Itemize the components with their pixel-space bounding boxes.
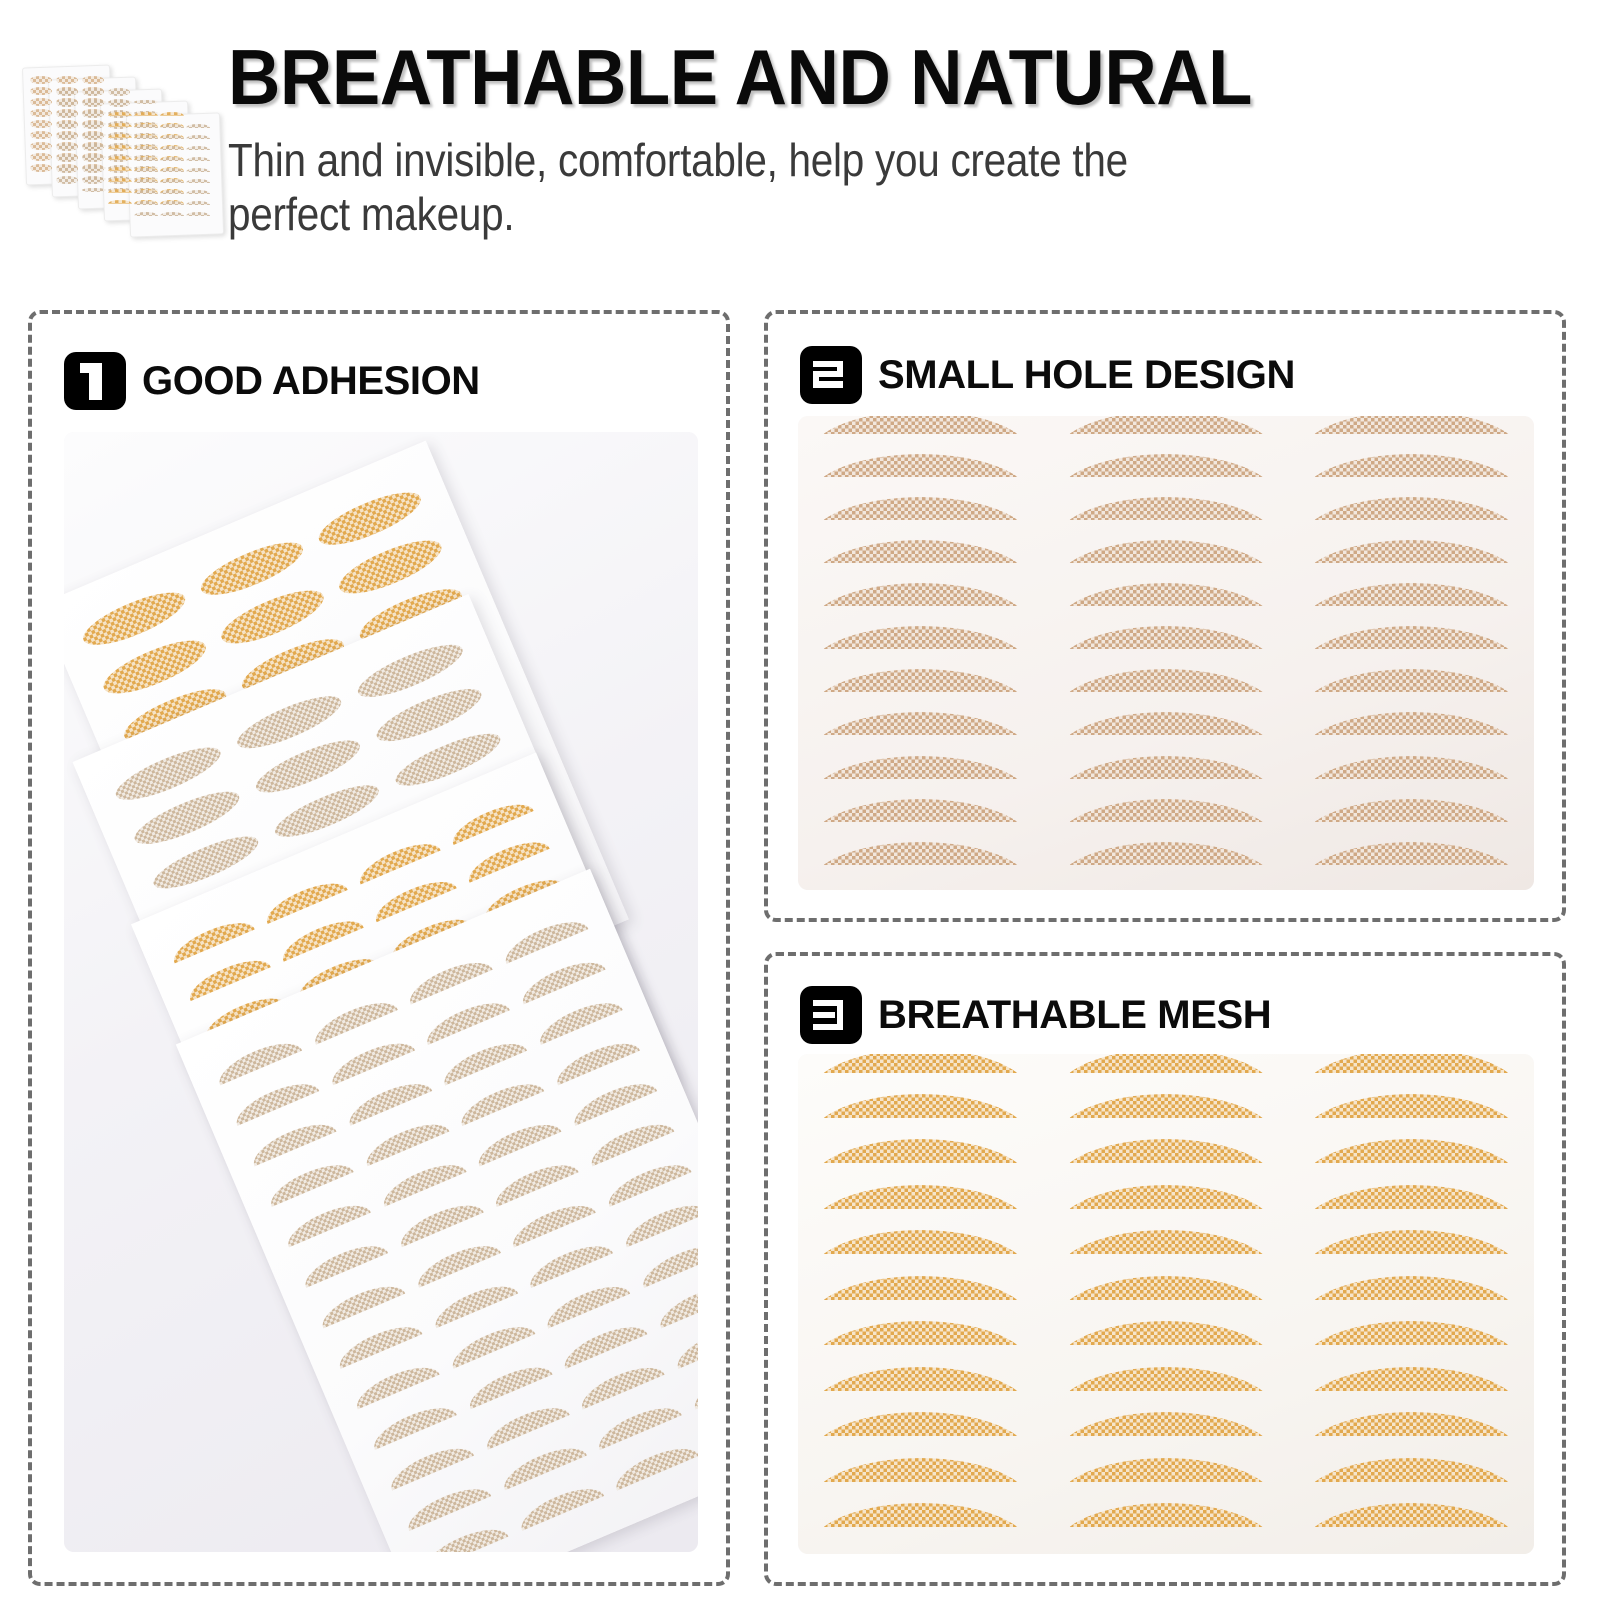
thumbnail-strip xyxy=(186,157,210,161)
thumbnail-strip xyxy=(134,135,158,139)
thumbnail-strip xyxy=(160,168,184,172)
thumbnail-strip xyxy=(82,133,106,137)
eyelid-tape-strip xyxy=(261,875,347,924)
eyelid-tape-strip xyxy=(507,1196,596,1247)
numeral-one-icon xyxy=(64,352,126,410)
thumbnail-strip xyxy=(186,124,210,128)
thumbnail-strip xyxy=(56,132,78,140)
thumbnail-strip xyxy=(108,100,132,104)
thumbnail-strip xyxy=(56,165,78,173)
thumbnail-strip xyxy=(108,88,130,96)
eyelid-tape-strip xyxy=(637,1237,698,1288)
feature-panel-good-adhesion: GOOD ADHESION xyxy=(28,310,730,1586)
thumbnail-strip xyxy=(160,124,184,128)
thumbnail-strip xyxy=(56,110,78,118)
eyelid-tape-strip xyxy=(671,1318,698,1369)
thumbnail-strip xyxy=(30,142,52,150)
thumbnail-strip xyxy=(82,166,106,170)
eyelid-tape-strip xyxy=(412,1237,501,1288)
eyelid-tape-strip xyxy=(334,1318,423,1369)
product-sheets-stack-thumbnail xyxy=(24,58,224,238)
thumbnail-strip xyxy=(56,143,78,151)
eyelid-tape-strip xyxy=(551,1034,640,1085)
eyelid-tape-strip xyxy=(343,1075,432,1126)
thumbnail-strip xyxy=(108,156,132,160)
thumbnail-strip xyxy=(186,201,210,205)
thumbnail-strip xyxy=(108,134,132,138)
eyelid-tape-strip xyxy=(421,994,510,1045)
eyelid-tape-strip xyxy=(370,873,456,922)
panel-title: BREATHABLE MESH xyxy=(878,995,1271,1035)
thumbnail-strip xyxy=(186,146,210,150)
page-subtitle: Thin and invisible, comfortable, help yo… xyxy=(228,134,1161,242)
thumbnail-strip xyxy=(82,122,106,126)
eyelid-tape-strip xyxy=(317,1277,406,1328)
thumbnail-strip xyxy=(160,146,184,150)
thumbnail-sheet xyxy=(126,112,224,237)
thumbnail-strip xyxy=(30,153,52,161)
thumbnail-strip xyxy=(134,157,158,161)
thumbnail-strip xyxy=(160,190,184,194)
eyelid-tape-strip xyxy=(446,1318,535,1369)
header: BREATHABLE AND NATURAL Thin and invisibl… xyxy=(0,0,1600,290)
eyelid-tape-strip xyxy=(438,1034,527,1085)
eyelid-tape-strip xyxy=(231,1075,320,1126)
eyelid-tape-strip xyxy=(429,1277,518,1328)
thumbnail-strip xyxy=(56,76,78,84)
thumbnail-strip xyxy=(82,111,106,115)
eyelid-tape-strip xyxy=(585,1115,674,1166)
eyelid-tape-strip xyxy=(515,1480,604,1531)
eyelid-tape-strip xyxy=(610,1439,698,1490)
eyelid-tape-strip xyxy=(576,1358,665,1409)
thumbnail-strip xyxy=(134,190,158,194)
eyelid-tape-strip xyxy=(309,994,398,1045)
eyelid-tape-strip xyxy=(168,914,254,963)
thumbnail-strip xyxy=(56,176,78,184)
eyelid-tape-strip xyxy=(542,1277,631,1328)
feature-panel-breathable-mesh: BREATHABLE MESH xyxy=(764,952,1566,1586)
eyelid-tape-strip xyxy=(481,1399,570,1450)
thumbnail-strip xyxy=(186,190,210,194)
thumbnail-strip xyxy=(134,112,158,116)
thumbnail-strip xyxy=(134,179,158,183)
eyelid-tape-strip xyxy=(499,913,588,964)
good-adhesion-product-photo xyxy=(64,432,698,1552)
eyelid-tape-strip xyxy=(517,953,606,1004)
small-hole-design-product-photo xyxy=(798,416,1534,890)
eyelid-tape-strip xyxy=(593,1399,682,1450)
thumbnail-strip xyxy=(82,144,106,148)
eyelid-tape-strip xyxy=(463,833,549,882)
thumbnail-strip xyxy=(160,135,184,139)
panel-header: GOOD ADHESION xyxy=(64,352,480,410)
thumbnail-strip xyxy=(160,157,184,161)
eyelid-tape-strip xyxy=(524,1237,613,1288)
thumbnail-strip xyxy=(108,189,132,193)
thumbnail-strip xyxy=(30,109,52,117)
eyelid-tape-strip xyxy=(420,1520,509,1552)
eyelid-tape-strip xyxy=(602,1156,691,1207)
eyelid-tape-strip xyxy=(184,952,270,1001)
thumbnail-strip xyxy=(56,121,78,129)
thumbnail-strip xyxy=(186,135,210,139)
thumbnail-strip xyxy=(82,177,106,181)
eyelid-tape-strip xyxy=(688,1358,698,1409)
eyelid-tape-strip xyxy=(498,1439,587,1490)
thumbnail-strip xyxy=(56,99,78,107)
thumbnail-strip xyxy=(30,87,52,95)
page-title: BREATHABLE AND NATURAL xyxy=(228,38,1252,116)
eyelid-tape-strip xyxy=(326,1034,415,1085)
thumbnail-strip xyxy=(134,168,158,172)
thumbnail-strip xyxy=(186,168,210,172)
thumbnail-strip xyxy=(160,112,184,116)
eyelid-tape-strip xyxy=(354,835,440,884)
eyelid-tape-strip xyxy=(490,1156,579,1207)
eyelid-tape-strip xyxy=(447,796,533,845)
eyelid-tape-strip xyxy=(456,1075,545,1126)
thumbnail-strip xyxy=(160,212,184,216)
feature-panel-small-hole-design: SMALL HOLE DESIGN xyxy=(764,310,1566,922)
panel-header: SMALL HOLE DESIGN xyxy=(800,346,1295,404)
thumbnail-strip xyxy=(134,212,158,216)
eyelid-tape-strip xyxy=(368,1399,457,1450)
thumbnail-strip xyxy=(30,76,52,84)
breathable-mesh-product-photo xyxy=(798,1054,1534,1554)
eyelid-tape-strip xyxy=(654,1277,698,1328)
eyelid-tape-strip xyxy=(385,1439,474,1490)
panel-title: GOOD ADHESION xyxy=(142,361,480,401)
panel-header: BREATHABLE MESH xyxy=(800,986,1271,1044)
thumbnail-strip xyxy=(30,131,52,139)
eyelid-tape-strip xyxy=(568,1075,657,1126)
eyelid-tape-strip xyxy=(404,953,493,1004)
eyelid-tape-strip xyxy=(403,1480,492,1531)
eyelid-tape-strip xyxy=(277,912,363,961)
thumbnail-strip xyxy=(108,145,132,149)
thumbnail-strip xyxy=(108,178,132,182)
eyelid-tape-strip xyxy=(360,1115,449,1166)
thumbnail-strip xyxy=(82,76,104,84)
eyelid-tape-strip xyxy=(248,1115,337,1166)
numeral-three-icon xyxy=(800,986,862,1044)
eyelid-tape-strip xyxy=(559,1318,648,1369)
numeral-two-icon xyxy=(800,346,862,404)
thumbnail-strip xyxy=(160,201,184,205)
eyelid-tape-strip xyxy=(534,994,623,1045)
thumbnail-strip xyxy=(30,164,52,172)
thumbnail-strip xyxy=(108,123,132,127)
thumbnail-strip xyxy=(82,155,106,159)
thumbnail-strip xyxy=(160,179,184,183)
thumbnail-strip xyxy=(108,112,132,116)
thumbnail-strip xyxy=(30,120,52,128)
eyelid-tape-strip xyxy=(265,1156,354,1207)
thumbnail-strip xyxy=(186,179,210,183)
eyelid-tape-strip xyxy=(464,1358,553,1409)
thumbnail-strip xyxy=(56,154,78,162)
thumbnail-strip xyxy=(82,100,106,104)
thumbnail-strip xyxy=(134,146,158,150)
thumbnail-strip xyxy=(134,124,158,128)
eyelid-tape-strip xyxy=(395,1196,484,1247)
eyelid-tape-strip xyxy=(378,1156,467,1207)
eyelid-tape-strip xyxy=(473,1115,562,1166)
eyelid-tape-strip xyxy=(282,1196,371,1247)
thumbnail-strip xyxy=(30,98,52,106)
thumbnail-strip xyxy=(134,100,158,104)
eyelid-tape-strip xyxy=(214,1034,303,1085)
eyelid-tape-strip xyxy=(620,1196,698,1247)
thumbnail-strip xyxy=(82,88,104,96)
thumbnail-strip xyxy=(82,188,106,192)
thumbnail-strip xyxy=(56,88,78,96)
thumbnail-strip xyxy=(108,167,132,171)
eyelid-tape-strip xyxy=(299,1237,388,1288)
panel-title: SMALL HOLE DESIGN xyxy=(878,355,1295,395)
thumbnail-strip xyxy=(108,200,132,204)
thumbnail-strip xyxy=(186,212,210,216)
thumbnail-strip xyxy=(134,201,158,205)
eyelid-tape-strip xyxy=(351,1358,440,1409)
